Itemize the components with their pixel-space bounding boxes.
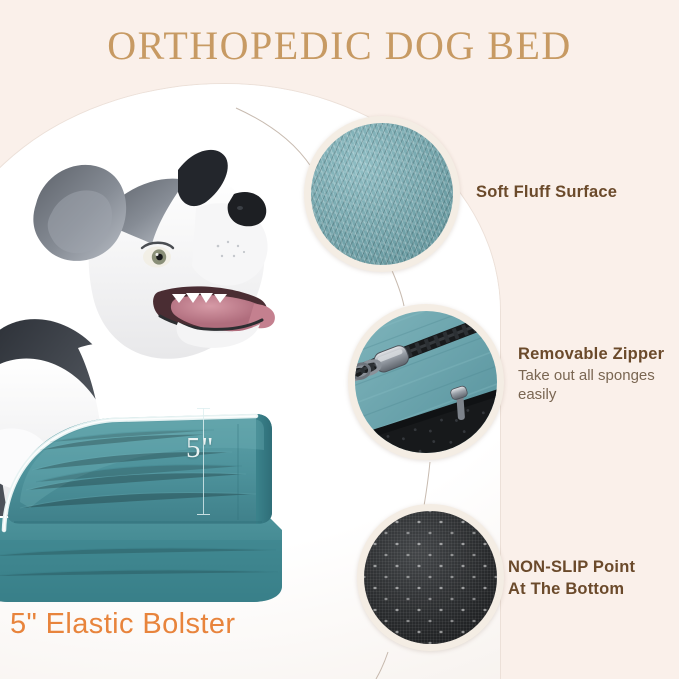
page-title: ORTHOPEDIC DOG BED xyxy=(0,22,679,69)
callout-circle-fluff[interactable] xyxy=(304,116,460,272)
callout-label-nonslip: NON-SLIP Point At The Bottom xyxy=(508,557,635,601)
measurement-cap-top xyxy=(197,408,210,409)
callout-subtext-zipper: Take out all sponges easily xyxy=(518,366,679,404)
callout-label-fluff: Soft Fluff Surface xyxy=(476,183,617,202)
dog-bed-illustration xyxy=(0,390,370,630)
infographic-canvas: ORTHOPEDIC DOG BED xyxy=(0,0,679,679)
measurement-cap-bottom xyxy=(197,514,210,515)
zipper-closeup-icon xyxy=(355,311,497,453)
callout-heading-nonslip-line2: At The Bottom xyxy=(508,579,635,601)
callout-heading-fluff: Soft Fluff Surface xyxy=(476,183,617,202)
callout-circle-zipper[interactable] xyxy=(348,304,504,460)
callout-label-zipper: Removable Zipper Take out all sponges ea… xyxy=(518,345,679,404)
callout-heading-nonslip-line1: NON-SLIP Point xyxy=(508,557,635,579)
non-slip-dots-swatch-icon xyxy=(364,511,497,644)
callout-circle-nonslip[interactable] xyxy=(357,504,504,651)
bed-height-label: 5" xyxy=(186,432,214,465)
callout-heading-zipper: Removable Zipper xyxy=(518,345,679,364)
bolster-caption: 5" Elastic Bolster xyxy=(10,608,235,641)
fabric-fluff-swatch-icon xyxy=(311,123,453,265)
